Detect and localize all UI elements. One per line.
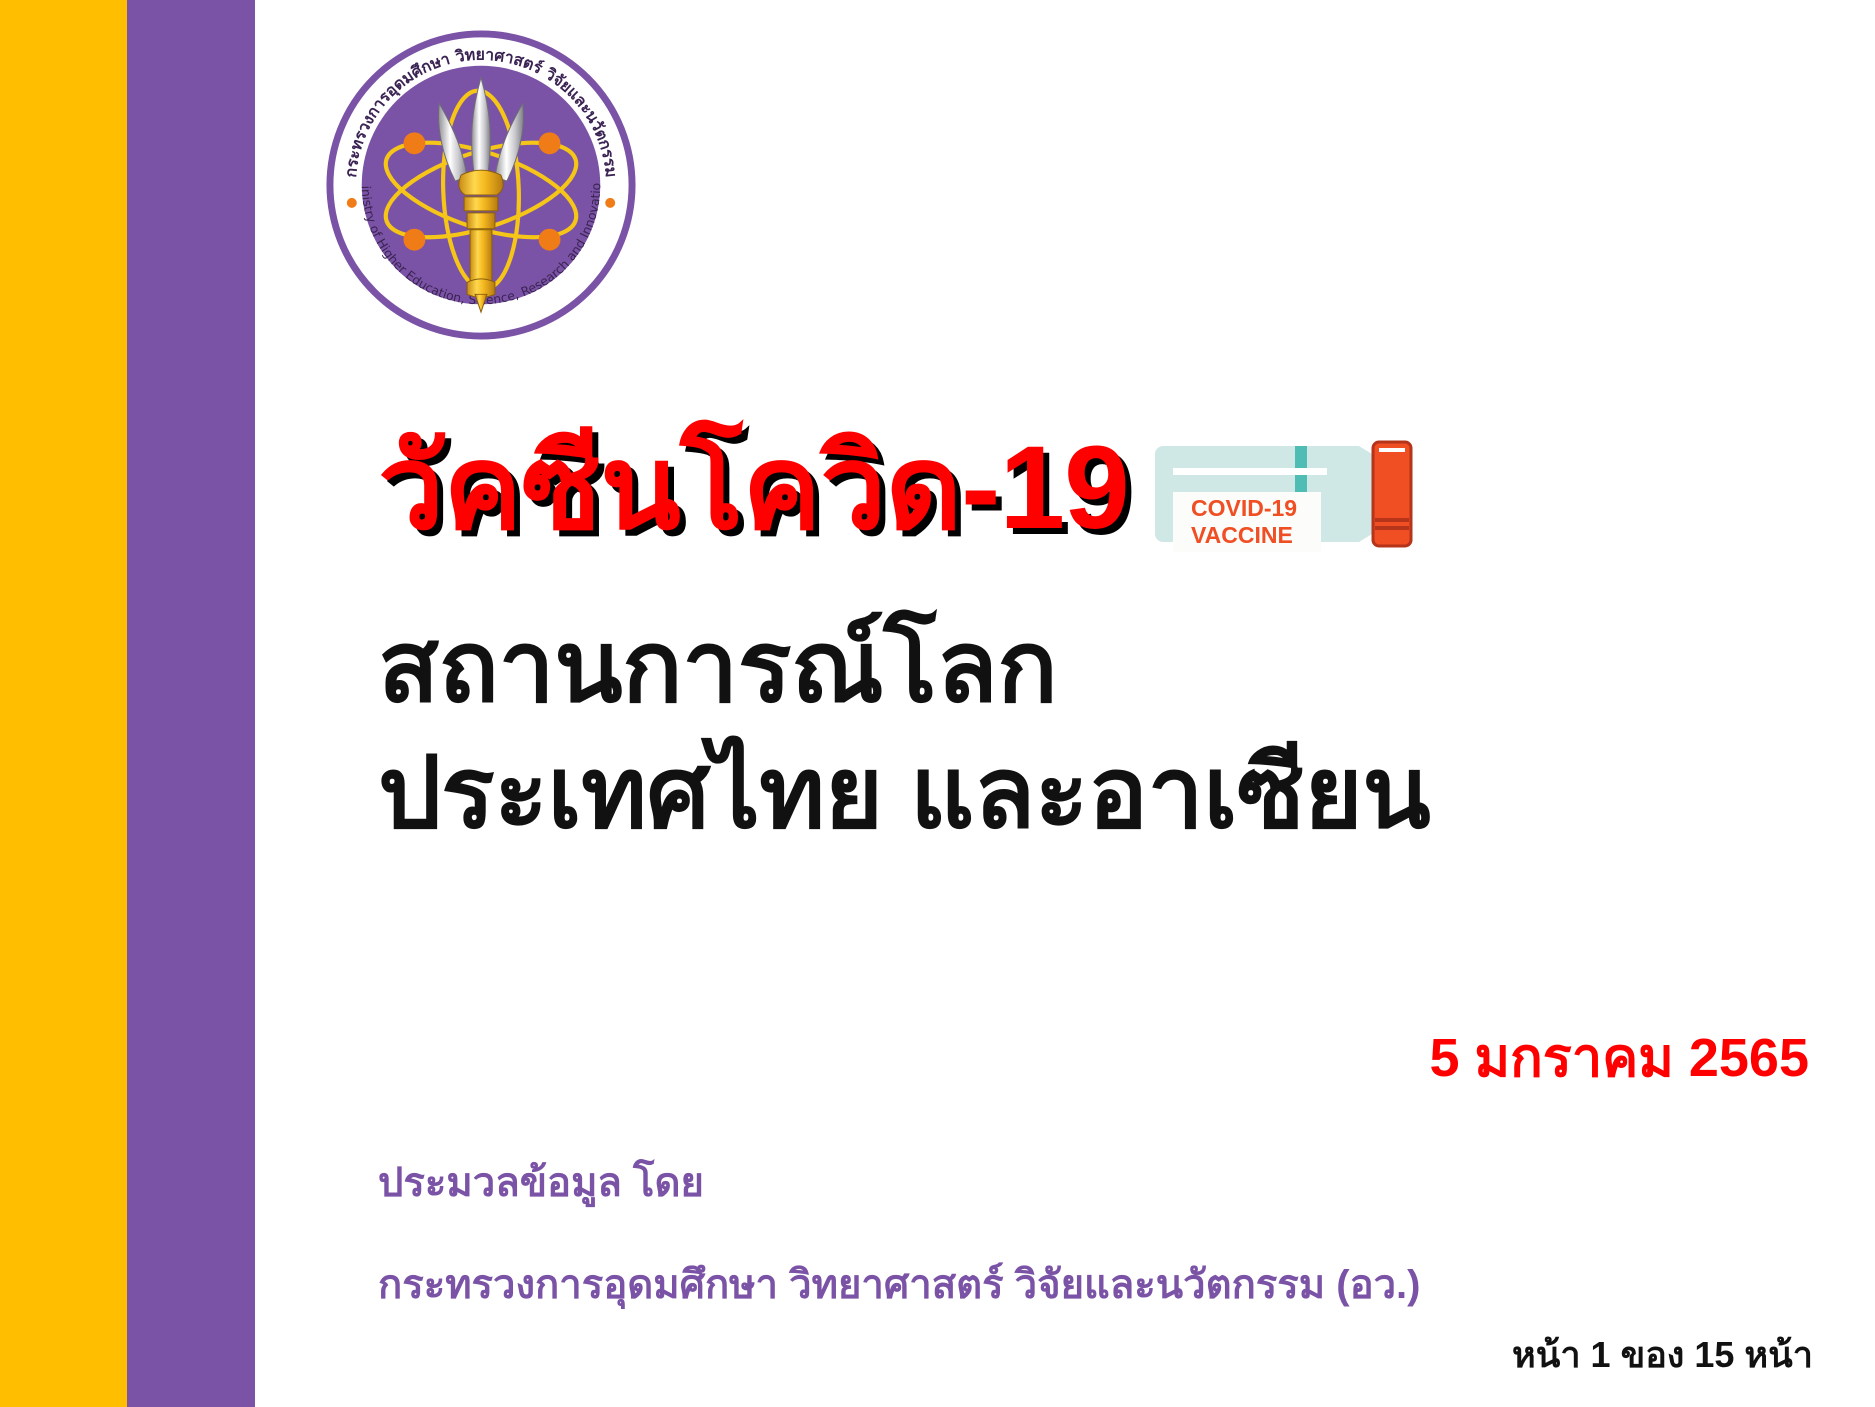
page-title-vaccine: วัคซีนโควิด-19: [378, 427, 1129, 550]
slide-canvas: กระทรวงการอุดมศึกษา วิทยาศาสตร์ วิจัยและ…: [0, 0, 1875, 1407]
subtitle-thailand-asean: ประเทศไทย และอาเซียน: [378, 732, 1808, 854]
purple-side-bar: [127, 0, 255, 1407]
title-row: วัคซีนโควิด-19 COVID-19 VACCINE: [378, 412, 1808, 564]
credit-compiled-by: ประมวลข้อมูล โดย: [378, 1150, 1420, 1214]
subtitle-world-situation: สถานการณ์โลก: [378, 606, 1808, 728]
svg-text:COVID-19: COVID-19: [1191, 495, 1297, 521]
report-date: 5 มกราคม 2565: [1429, 1014, 1809, 1100]
page-number-footer: หน้า 1 ของ 15 หน้า: [1512, 1326, 1813, 1383]
credit-organization: กระทรวงการอุดมศึกษา วิทยาศาสตร์ วิจัยและ…: [378, 1252, 1420, 1316]
covid-vaccine-vial-icon: COVID-19 VACCINE: [1155, 424, 1433, 564]
credits-block: ประมวลข้อมูล โดย กระทรวงการอุดมศึกษา วิท…: [378, 1150, 1420, 1316]
svg-text:VACCINE: VACCINE: [1191, 522, 1293, 548]
headline-block: วัคซีนโควิด-19 COVID-19 VACCINE: [378, 412, 1808, 854]
ministry-logo: กระทรวงการอุดมศึกษา วิทยาศาสตร์ วิจัยและ…: [322, 26, 640, 344]
orange-side-bar: [0, 0, 127, 1407]
